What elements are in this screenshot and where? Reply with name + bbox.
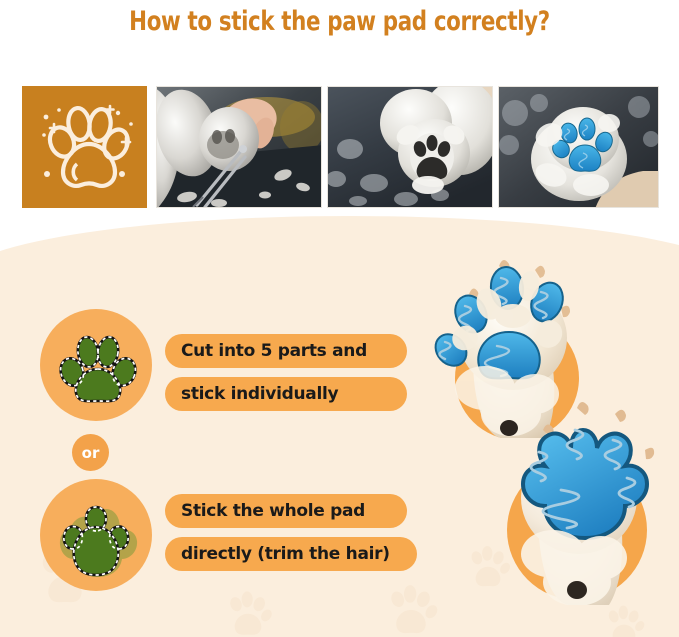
infographic-page: How to stick the paw pad correctly? bbox=[0, 0, 679, 637]
photo-pad-applied bbox=[498, 86, 659, 208]
steps-strip bbox=[22, 86, 659, 208]
option-cut-line-2: stick individually bbox=[165, 377, 407, 411]
photo-trim-hair bbox=[156, 86, 322, 208]
or-separator-badge: or bbox=[72, 434, 109, 471]
paw-cut-into-parts-icon bbox=[40, 309, 152, 421]
paw-watermark-icon bbox=[380, 578, 442, 637]
option-whole-line-2: directly (trim the hair) bbox=[165, 537, 417, 571]
page-title: How to stick the paw pad correctly? bbox=[41, 6, 639, 37]
paw-watermark-icon bbox=[220, 585, 276, 637]
paw-icon-panel bbox=[22, 86, 147, 208]
option-cut-line-1: Cut into 5 parts and bbox=[165, 334, 407, 368]
photo-paw-whole-pad bbox=[505, 390, 679, 605]
option-whole-line-1: Stick the whole pad bbox=[165, 494, 407, 528]
paw-watermark-icon bbox=[600, 600, 648, 637]
photo-clean-pad bbox=[327, 86, 493, 208]
paw-whole-pad-icon bbox=[40, 479, 152, 591]
paw-outline-icon bbox=[22, 86, 147, 208]
